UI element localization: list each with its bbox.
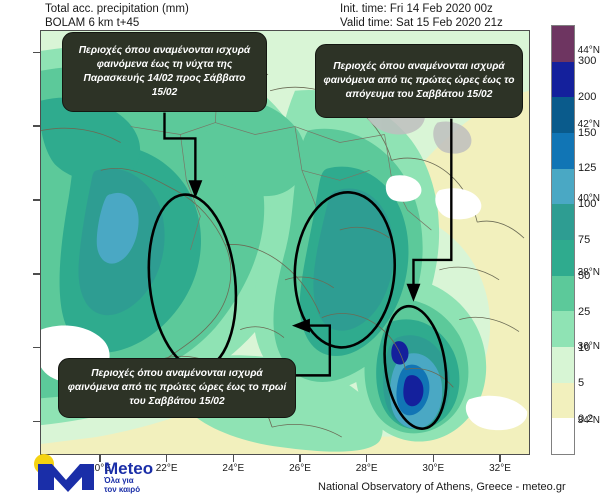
latitude-tick [33,125,40,126]
longitude-tick-label: 24°E [210,463,256,474]
longitude-tick-label: 30°E [410,463,456,474]
logo-tagline-2: τον καιρό [104,485,140,494]
meteo-logo[interactable]: Meteo Όλα για τον καιρό [24,452,199,496]
colorbar-tick-label: 200 [578,91,596,103]
logo-tagline-1: Όλα για [103,476,134,485]
colorbar-tick-label: 150 [578,127,596,139]
longitude-tick [433,455,434,462]
chart-subtitle: BOLAM 6 km t+45 [45,16,189,30]
colorbar-tick-label: 50 [578,270,590,282]
colorbar-tick-label: 25 [578,306,590,318]
colorbar-tick-label: 300 [578,55,596,67]
colorbar-band [552,276,574,312]
colorbar[interactable] [551,25,575,455]
longitude-tick [233,455,234,462]
meteo-logo-svg: Meteo Όλα για τον καιρό [24,452,199,496]
colorbar-band [552,240,574,276]
init-time-label: Init. time: Fri 14 Feb 2020 00z [340,2,503,16]
logo-m-mark [38,464,94,492]
colorbar-band [552,169,574,205]
latitude-tick [33,421,40,422]
longitude-tick [499,455,500,462]
colorbar-band [552,418,574,454]
model-time-block: Init. time: Fri 14 Feb 2020 00z Valid ti… [340,2,503,30]
callout-box-west[interactable]: Περιοχές όπου αναμένονται ισχυρά φαινόμε… [62,32,267,112]
colorbar-tick-label: 0.2 [578,413,593,425]
colorbar-tick-label: 100 [578,198,596,210]
colorbar-band [552,133,574,169]
colorbar-tick-label: 75 [578,234,590,246]
colorbar-tick-label: 10 [578,342,590,354]
colorbar-tick-label: 125 [578,162,596,174]
colorbar-band [552,347,574,383]
longitude-tick [299,455,300,462]
callout-text: Περιοχές όπου αναμένονται ισχυρά φαινόμε… [70,44,259,100]
footer-credit: National Observatory of Athens, Greece -… [318,481,566,493]
latitude-tick [33,199,40,200]
callout-text: Περιοχές όπου αναμένονται ισχυρά φαινόμε… [66,367,288,409]
colorbar-band [552,311,574,347]
colorbar-tick-label: 5 [578,377,584,389]
colorbar-band [552,204,574,240]
longitude-tick-label: 32°E [477,463,523,474]
latitude-tick [33,347,40,348]
chart-title: Total acc. precipitation (mm) [45,2,189,16]
colorbar-band [552,62,574,98]
colorbar-band [552,97,574,133]
longitude-tick [366,455,367,462]
colorbar-band [552,26,574,62]
callout-box-central[interactable]: Περιοχές όπου αναμένονται ισχυρά φαινόμε… [58,358,296,418]
callout-box-east[interactable]: Περιοχές όπου αναμένονται ισχυρά φαινόμε… [315,44,523,118]
chart-title-block: Total acc. precipitation (mm) BOLAM 6 km… [45,2,189,30]
colorbar-band [552,383,574,419]
callout-text: Περιοχές όπου αναμένονται ισχυρά φαινόμε… [323,60,515,102]
latitude-tick [33,52,40,53]
longitude-tick-label: 28°E [344,463,390,474]
valid-time-label: Valid time: Sat 15 Feb 2020 21z [340,16,503,30]
latitude-tick [33,273,40,274]
longitude-tick-label: 26°E [277,463,323,474]
